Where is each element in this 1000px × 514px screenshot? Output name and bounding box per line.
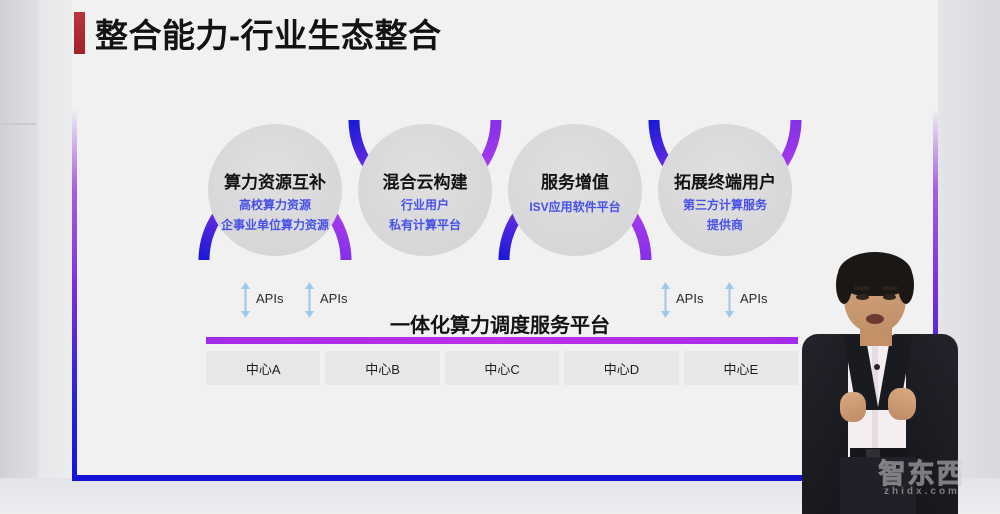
presenter-hand-right [888,388,916,420]
node-subtitle-1: ISV应用软件平台 [490,198,660,215]
ecosystem-node-2[interactable]: 混合云构建 行业用户 私有计算平台 [340,110,510,270]
ecosystem-node-row: 算力资源互补 高校算力资源 企事业单位算力资源 混合云构 [190,110,810,270]
center-box-a[interactable]: 中心A [206,351,320,385]
slide-video-frame: 整合能力-行业生态整合 算力资源互补 高校算力资源 [0,0,1000,514]
node-subtitle-1: 高校算力资源 [190,196,360,213]
center-box-row: 中心A 中心B 中心C 中心D 中心E [206,351,798,385]
backdrop-panel-left [0,0,38,514]
api-label: APIs [740,291,767,306]
presenter-hair-side-left [836,266,852,304]
backdrop-seam [0,123,36,125]
presenter-eyebrow-left [854,286,870,290]
slide-border-left [72,108,77,480]
node-subtitle-1: 第三方计算服务 [640,196,810,213]
watermark-domain: zhidx.com [852,486,992,497]
node-title: 拓展终端用户 [640,168,810,193]
ecosystem-node-1[interactable]: 算力资源互补 高校算力资源 企事业单位算力资源 [190,110,360,270]
api-label: APIs [320,291,347,306]
api-label: APIs [676,291,703,306]
presenter-eyebrow-right [882,286,898,290]
watermark: 智东西 zhidx.com [852,452,992,508]
presenter-mouth [866,314,884,324]
platform-bar [206,337,798,344]
node-title: 算力资源互补 [190,168,360,193]
center-box-b[interactable]: 中心B [325,351,439,385]
page-title: 整合能力-行业生态整合 [95,9,442,57]
presenter-eye-right [883,294,896,300]
title-accent-bar [74,12,85,54]
ecosystem-node-3[interactable]: 服务增值 ISV应用软件平台 [490,110,660,270]
node-title: 混合云构建 [340,168,510,193]
presenter-eye-left [856,294,869,300]
node-subtitle-2: 提供商 [640,216,810,233]
presenter-hand-left [840,392,866,422]
backdrop-panel-left-inner [38,0,72,514]
center-box-c[interactable]: 中心C [445,351,559,385]
center-box-e[interactable]: 中心E [684,351,798,385]
node-title: 服务增值 [490,168,660,193]
node-subtitle-1: 行业用户 [340,196,510,213]
api-label: APIs [256,291,283,306]
node-subtitle-2: 企事业单位算力资源 [190,216,360,233]
node-subtitle-2: 私有计算平台 [340,216,510,233]
ecosystem-node-4[interactable]: 拓展终端用户 第三方计算服务 提供商 [640,110,810,270]
presenter-hair-side-right [898,266,914,304]
lapel-microphone-icon [874,364,880,370]
center-box-d[interactable]: 中心D [564,351,678,385]
